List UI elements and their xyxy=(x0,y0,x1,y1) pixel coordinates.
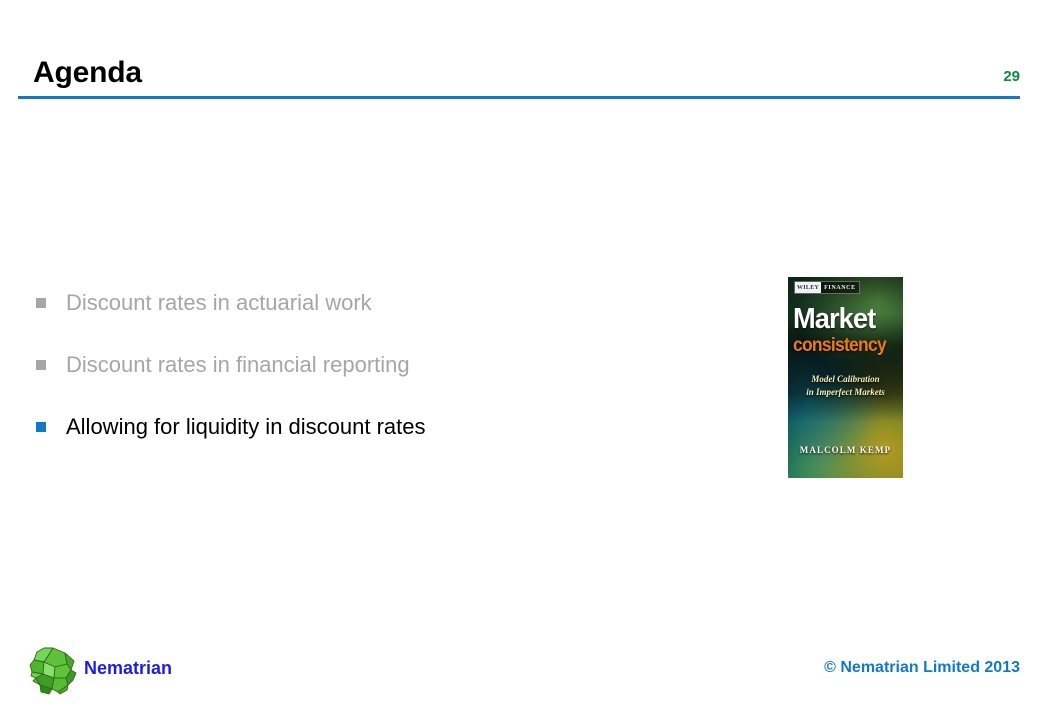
list-item-label: Allowing for liquidity in discount rates xyxy=(66,412,426,442)
slide: Agenda 29 Discount rates in actuarial wo… xyxy=(0,0,1040,720)
book-strapline-line2: in Imperfect Markets xyxy=(788,386,903,399)
book-strapline: Model Calibration in Imperfect Markets xyxy=(788,373,903,399)
book-title-line2: consistency xyxy=(793,335,886,356)
publisher-logo-label: WILEY xyxy=(795,282,821,293)
publisher-series-label: FINANCE xyxy=(821,282,859,293)
agenda-bullet-list: Discount rates in actuarial work Discoun… xyxy=(36,288,676,474)
page-title: Agenda xyxy=(33,55,142,91)
bullet-square-icon xyxy=(36,360,46,370)
list-item[interactable]: Discount rates in actuarial work xyxy=(36,288,676,350)
book-author: MALCOLM KEMP xyxy=(788,445,903,455)
list-item[interactable]: Discount rates in financial reporting xyxy=(36,350,676,412)
footer-copyright: © Nematrian Limited 2013 xyxy=(824,658,1020,678)
page-number: 29 xyxy=(1003,68,1020,86)
list-item[interactable]: Allowing for liquidity in discount rates xyxy=(36,412,676,474)
polyhedron-icon xyxy=(27,645,79,697)
book-title-line1: Market xyxy=(793,304,875,334)
list-item-label: Discount rates in financial reporting xyxy=(66,350,410,380)
list-item-label: Discount rates in actuarial work xyxy=(66,288,372,318)
bullet-square-icon xyxy=(36,422,46,432)
book-strapline-line1: Model Calibration xyxy=(788,373,903,386)
footer-brand-label: Nematrian xyxy=(84,657,172,679)
publisher-badge: WILEY FINANCE xyxy=(794,281,860,294)
title-divider xyxy=(18,96,1020,99)
bullet-square-icon xyxy=(36,298,46,308)
book-cover-image: WILEY FINANCE Market consistency Model C… xyxy=(788,277,903,478)
